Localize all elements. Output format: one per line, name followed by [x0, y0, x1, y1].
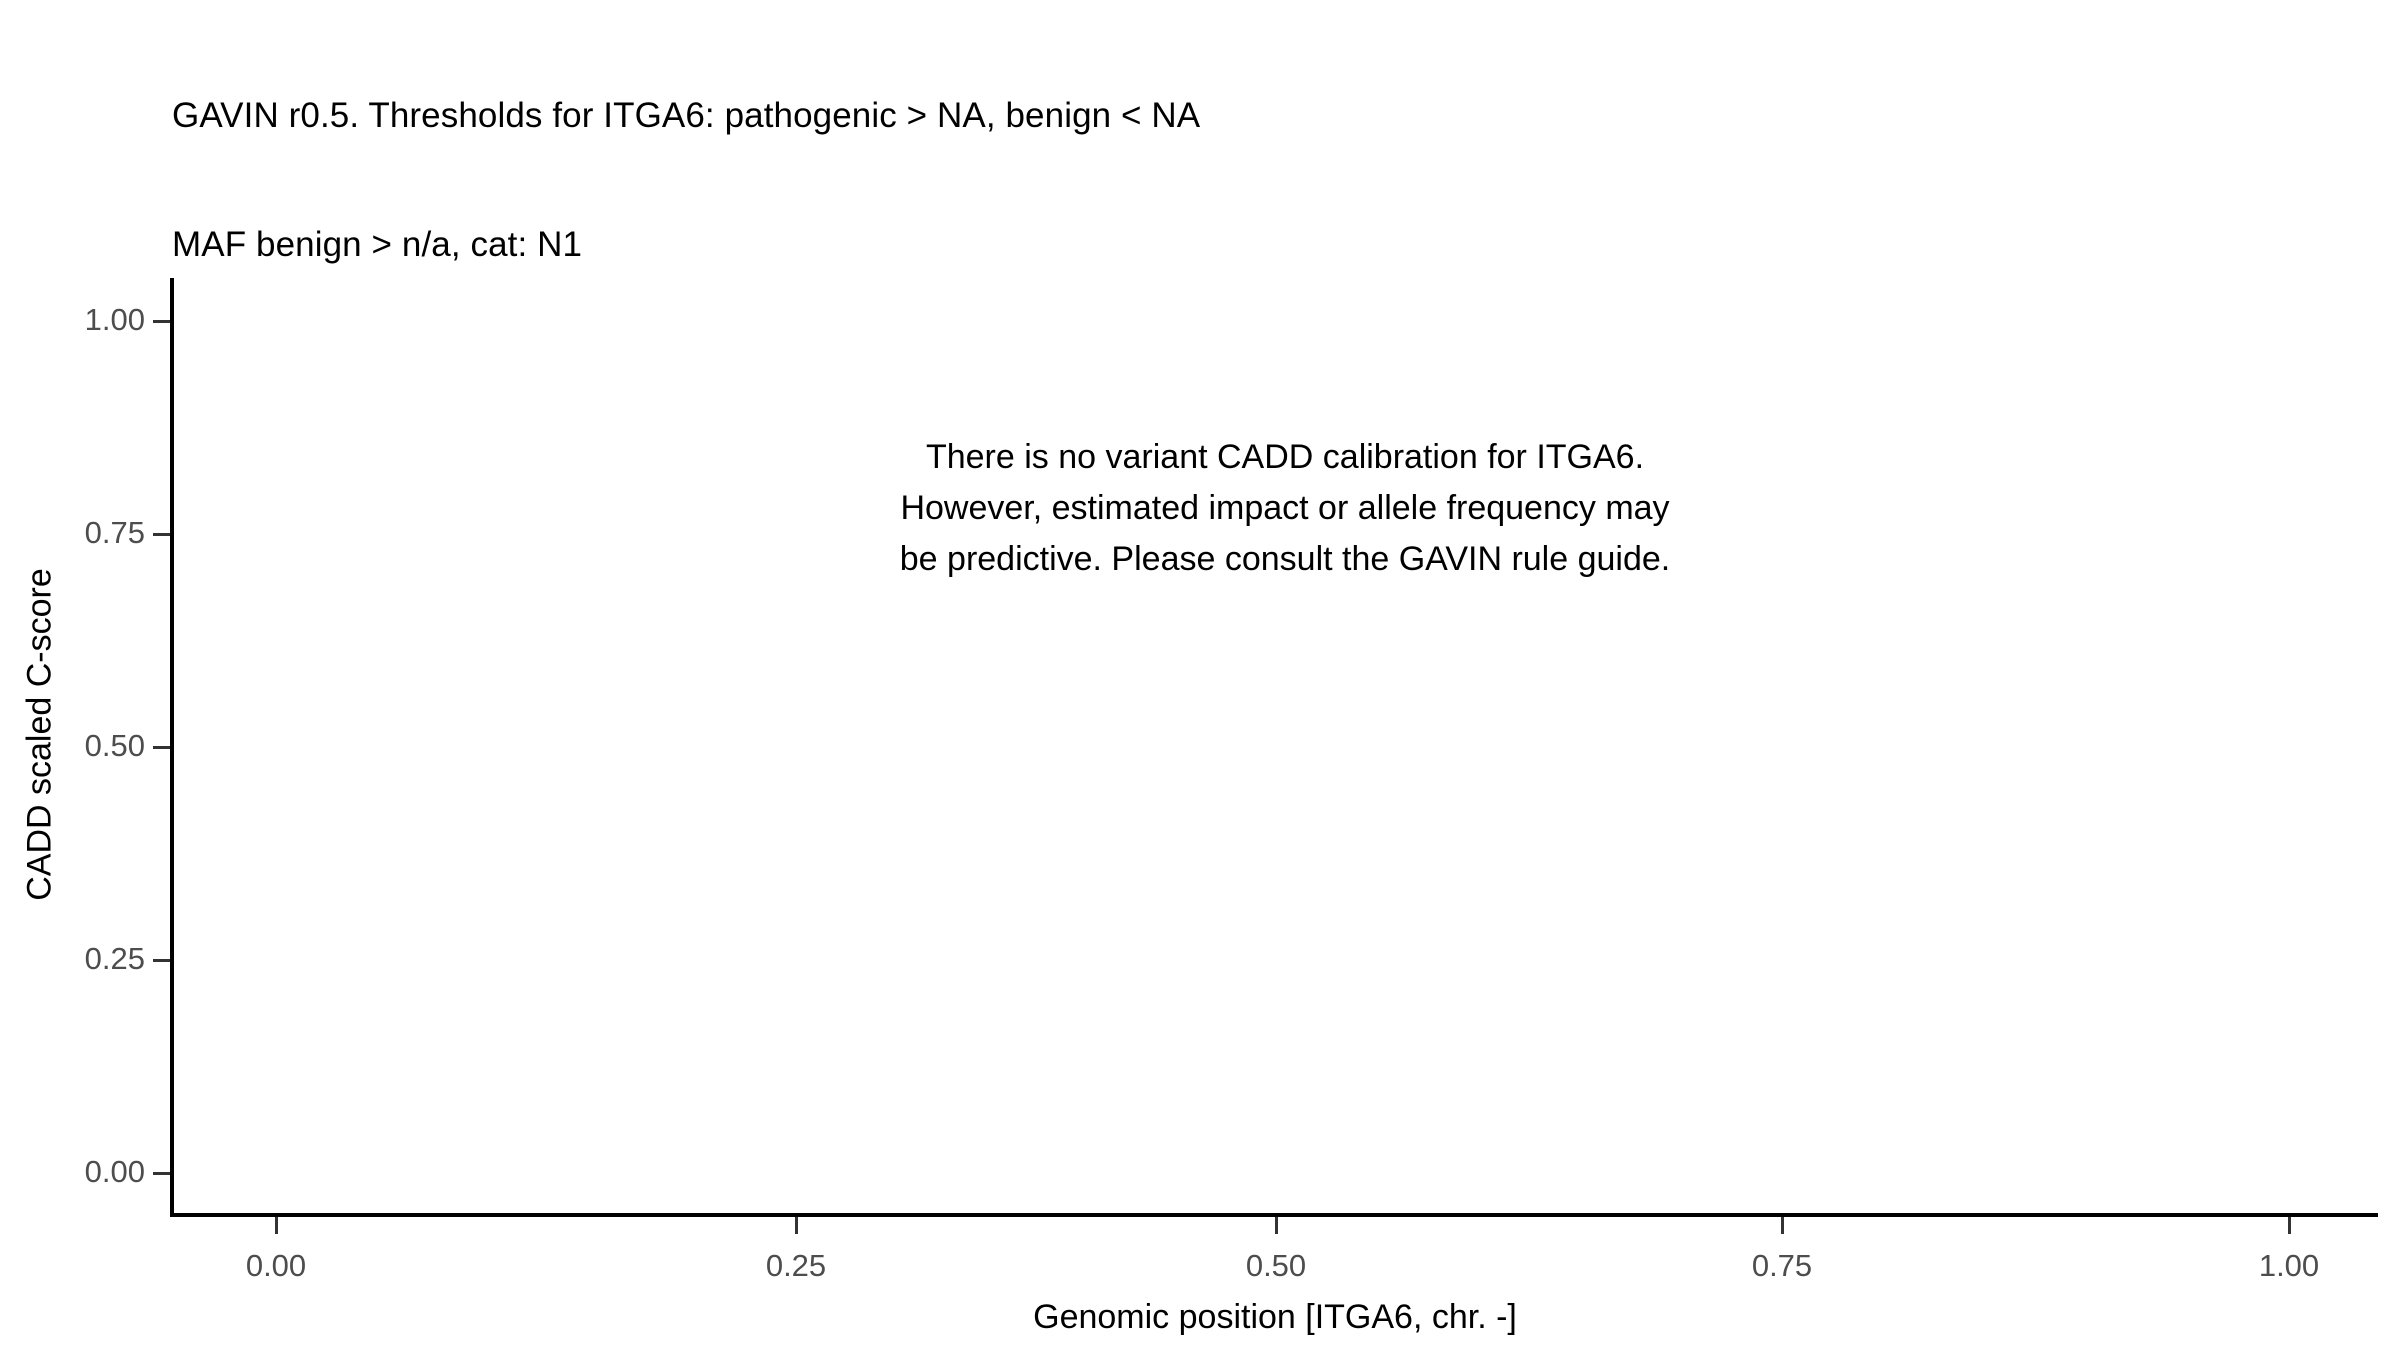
plot-annotation-line-2: However, estimated impact or allele freq…: [755, 483, 1815, 534]
x-tick-mark-0.50: [1275, 1217, 1278, 1234]
plot-annotation: There is no variant CADD calibration for…: [755, 432, 1815, 585]
x-tick-mark-0.00: [275, 1217, 278, 1234]
plot-annotation-line-3: be predictive. Please consult the GAVIN …: [755, 534, 1815, 585]
plot-title-line-2: MAF benign > n/a, cat: N1: [172, 223, 2372, 266]
x-tick-label-0.50: 0.50: [1196, 1248, 1356, 1284]
x-tick-mark-0.25: [795, 1217, 798, 1234]
y-axis-title-wrapper: CADD scaled C-score: [21, 265, 60, 1205]
y-tick-mark-0.50: [153, 746, 170, 749]
x-tick-label-0.00: 0.00: [196, 1248, 356, 1284]
y-axis-title: CADD scaled C-score: [21, 568, 60, 901]
plot-annotation-line-1: There is no variant CADD calibration for…: [755, 432, 1815, 483]
y-axis-line: [170, 278, 174, 1217]
x-axis-title: Genomic position [ITGA6, chr. -]: [172, 1298, 2378, 1337]
x-tick-label-1.00: 1.00: [2209, 1248, 2369, 1284]
plot-title-line-1: GAVIN r0.5. Thresholds for ITGA6: pathog…: [172, 94, 2372, 137]
y-tick-mark-1.00: [153, 320, 170, 323]
x-axis-line: [170, 1213, 2378, 1217]
x-tick-mark-1.00: [2288, 1217, 2291, 1234]
y-tick-mark-0.75: [153, 533, 170, 536]
x-tick-label-0.75: 0.75: [1702, 1248, 1862, 1284]
plot-panel: [172, 278, 2378, 1215]
y-tick-mark-0.25: [153, 959, 170, 962]
y-tick-mark-0.00: [153, 1172, 170, 1175]
x-tick-mark-0.75: [1781, 1217, 1784, 1234]
x-tick-label-0.25: 0.25: [716, 1248, 876, 1284]
